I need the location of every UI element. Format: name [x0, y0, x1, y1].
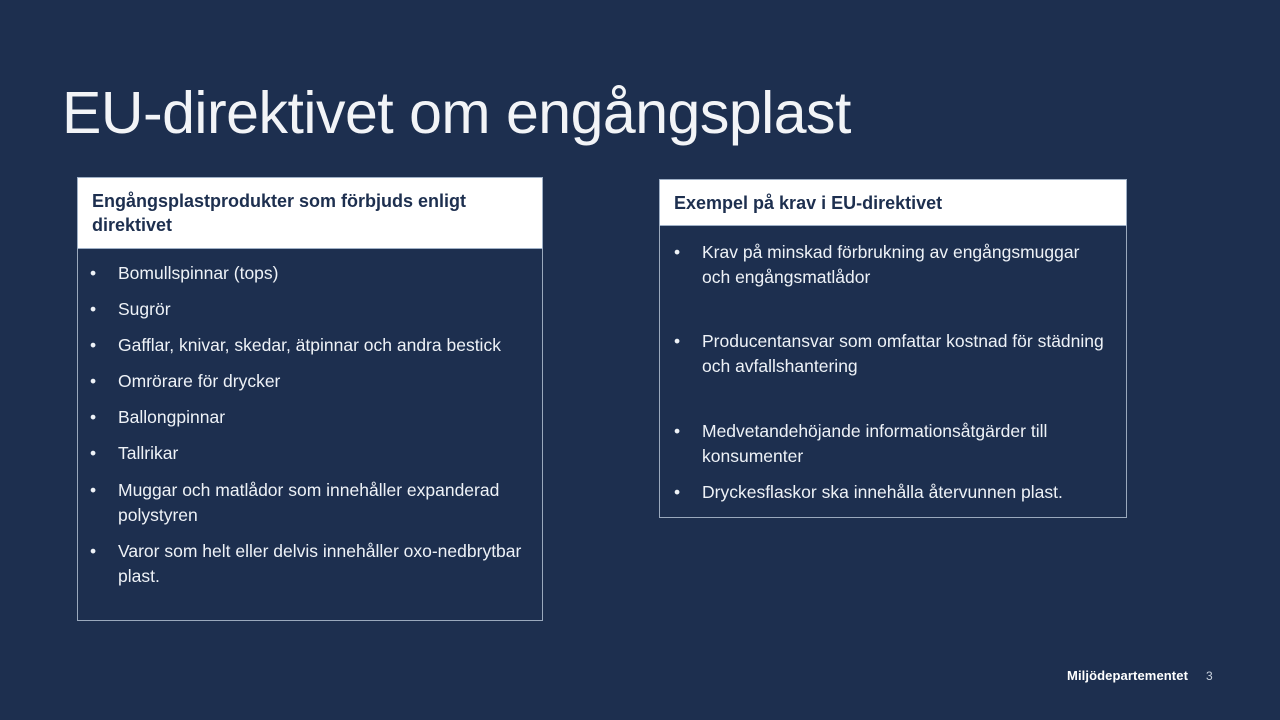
list-item-label: Krav på minskad förbrukning av engångsmu…	[702, 242, 1079, 287]
bullet-icon: •	[674, 480, 680, 505]
list-item-label: Omrörare för drycker	[118, 371, 280, 391]
directive-requirements-list: • Krav på minskad förbrukning av engångs…	[660, 240, 1116, 505]
bullet-icon: •	[90, 261, 96, 286]
list-item-label: Dryckesflaskor ska innehålla återvunnen …	[702, 482, 1063, 502]
list-item: • Bomullspinnar (tops)	[78, 261, 532, 286]
list-item-label: Tallrikar	[118, 443, 178, 463]
bullet-icon: •	[90, 478, 96, 503]
list-item-label: Varor som helt eller delvis innehåller o…	[118, 541, 521, 586]
list-item: • Varor som helt eller delvis innehåller…	[78, 539, 532, 589]
directive-requirements-panel-header: Exempel på krav i EU-direktivet	[659, 179, 1127, 226]
directive-requirements-panel-body: • Krav på minskad förbrukning av engångs…	[659, 226, 1127, 518]
bullet-icon: •	[90, 369, 96, 394]
list-item: • Ballongpinnar	[78, 405, 532, 430]
bullet-icon: •	[90, 405, 96, 430]
bullet-icon: •	[90, 441, 96, 466]
list-item: • Tallrikar	[78, 441, 532, 466]
list-item-label: Muggar och matlådor som innehåller expan…	[118, 480, 499, 525]
bullet-icon: •	[674, 419, 680, 444]
bullet-icon: •	[674, 240, 680, 265]
list-item: • Krav på minskad förbrukning av engångs…	[660, 240, 1116, 290]
slide: EU-direktivet om engångsplast Engångspla…	[0, 0, 1280, 720]
list-item: • Medvetandehöjande informationsåtgärder…	[660, 419, 1116, 469]
slide-number: 3	[1206, 669, 1213, 683]
list-item: • Gafflar, knivar, skedar, ätpinnar och …	[78, 333, 532, 358]
list-item: • Sugrör	[78, 297, 532, 322]
list-item-label: Sugrör	[118, 299, 171, 319]
list-item-label: Bomullspinnar (tops)	[118, 263, 278, 283]
list-item: • Producentansvar som omfattar kostnad f…	[660, 329, 1116, 379]
bullet-icon: •	[674, 329, 680, 354]
list-item: • Muggar och matlådor som innehåller exp…	[78, 478, 532, 528]
bullet-icon: •	[90, 539, 96, 564]
list-item-label: Ballongpinnar	[118, 407, 225, 427]
list-item-label: Producentansvar som omfattar kostnad för…	[702, 331, 1104, 376]
banned-products-panel-body: • Bomullspinnar (tops) • Sugrör • Gaffla…	[77, 249, 543, 621]
banned-products-panel-header: Engångsplastprodukter som förbjuds enlig…	[77, 177, 543, 249]
page-title: EU-direktivet om engångsplast	[62, 80, 1162, 146]
bullet-icon: •	[90, 333, 96, 358]
bullet-icon: •	[90, 297, 96, 322]
banned-products-panel: Engångsplastprodukter som förbjuds enlig…	[77, 177, 543, 621]
list-item-label: Medvetandehöjande informationsåtgärder t…	[702, 421, 1047, 466]
list-item: • Dryckesflaskor ska innehålla återvunne…	[660, 480, 1116, 505]
list-item-label: Gafflar, knivar, skedar, ätpinnar och an…	[118, 335, 501, 355]
list-item: • Omrörare för drycker	[78, 369, 532, 394]
footer-organization: Miljödepartementet	[1067, 668, 1188, 683]
banned-products-list: • Bomullspinnar (tops) • Sugrör • Gaffla…	[78, 261, 532, 590]
directive-requirements-panel: Exempel på krav i EU-direktivet • Krav p…	[659, 179, 1127, 518]
